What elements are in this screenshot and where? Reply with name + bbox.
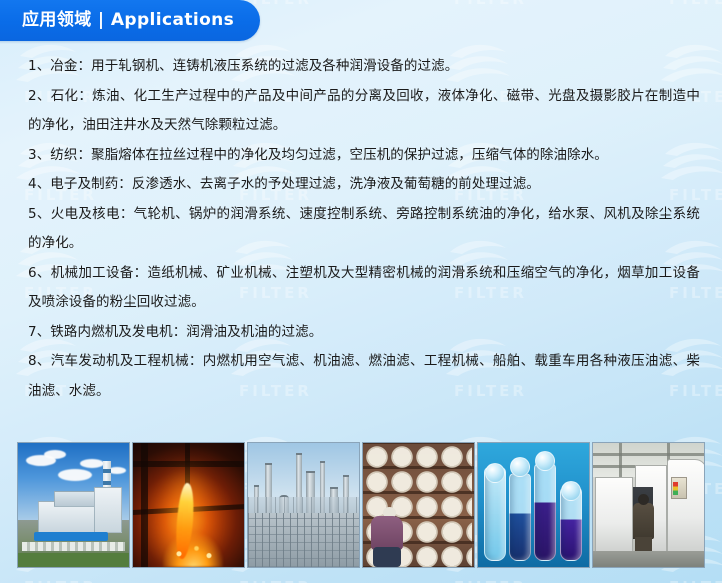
sparks: [169, 543, 219, 561]
operator-head: [638, 494, 649, 505]
power-plant-scene: [18, 443, 129, 567]
workshop-scene: [593, 443, 704, 567]
textile-scene: [363, 443, 474, 567]
lawn: [18, 553, 129, 567]
ceiling-joist: [593, 453, 704, 456]
ceiling-column: [619, 443, 622, 477]
application-item-8: 8、汽车发动机及工程机械：内燃机用空气滤、机油滤、燃油滤、工程机械、船舶、载重车…: [28, 347, 706, 406]
test-tube: [534, 463, 556, 561]
pipe-rack-lower: [248, 513, 359, 567]
tube-stopper: [561, 481, 581, 501]
workshop-floor: [593, 551, 704, 567]
application-item-5: 5、火电及核电：气轮机、锅炉的润滑系统、速度控制系统、旁路控制系统油的净化，给水…: [28, 200, 706, 259]
application-item-1: 1、冶金：用于轧钢机、连铸机液压系统的过滤及各种润滑设备的过滤。: [28, 52, 706, 82]
section-title-pill: 应用领域 | Applications: [0, 0, 260, 41]
tube-stopper: [485, 463, 505, 483]
cloud: [58, 469, 92, 481]
site-fence: [22, 542, 125, 551]
cloud: [44, 450, 66, 459]
applications-list: 1、冶金：用于轧钢机、连铸机液压系统的过滤及各种润滑设备的过滤。 2、石化：炼油…: [0, 52, 722, 406]
furnace-scene: [133, 443, 244, 567]
application-photo-strip: [17, 442, 705, 568]
page-title: 应用领域 | Applications: [22, 12, 234, 29]
lab-scene: [478, 443, 589, 567]
tube-stopper: [535, 451, 555, 471]
application-item-7: 7、铁路内燃机及发电机：润滑油及机油的过滤。: [28, 318, 706, 348]
cloud: [80, 459, 104, 468]
test-tube: [509, 473, 531, 561]
photo-test-tubes: [477, 442, 590, 568]
worker-legs: [373, 547, 401, 567]
water-pond: [34, 532, 108, 541]
textile-worker: [367, 505, 409, 567]
worker-body: [371, 516, 403, 550]
header-band: 应用领域 | Applications: [0, 0, 722, 46]
tube-stopper: [510, 457, 530, 477]
photo-petrochemical-refinery: [247, 442, 360, 568]
application-item-6: 6、机械加工设备：造纸机械、矿业机械、注塑机及大型精密机械的润滑系统和压缩空气的…: [28, 259, 706, 318]
photo-textile-spools: [362, 442, 475, 568]
photo-steel-furnace: [132, 442, 245, 568]
plant-building: [94, 487, 122, 533]
steel-beam: [133, 461, 245, 467]
applications-page: 应用领域 | Applications 1、冶金：用于轧钢机、连铸机液压系统的过…: [0, 0, 722, 583]
cnc-machine: [667, 459, 705, 553]
photo-power-plant: [17, 442, 130, 568]
signal-tower-lamp: [673, 482, 678, 495]
application-item-2: 2、石化：炼油、化工生产过程中的产品及中间产品的分离及回收，液体净化、磁带、光盘…: [28, 82, 706, 141]
operator-body: [633, 503, 654, 539]
application-item-3: 3、纺织：聚脂熔体在拉丝过程中的净化及均匀过滤，空压机的保护过滤，压缩气体的除油…: [28, 141, 706, 171]
application-item-4: 4、电子及制药：反渗透水、去离子水的予处理过滤，洗净液及葡萄糖的前处理过滤。: [28, 170, 706, 200]
photo-machining-shop: [592, 442, 705, 568]
refinery-scene: [248, 443, 359, 567]
cnc-machine: [595, 477, 633, 553]
